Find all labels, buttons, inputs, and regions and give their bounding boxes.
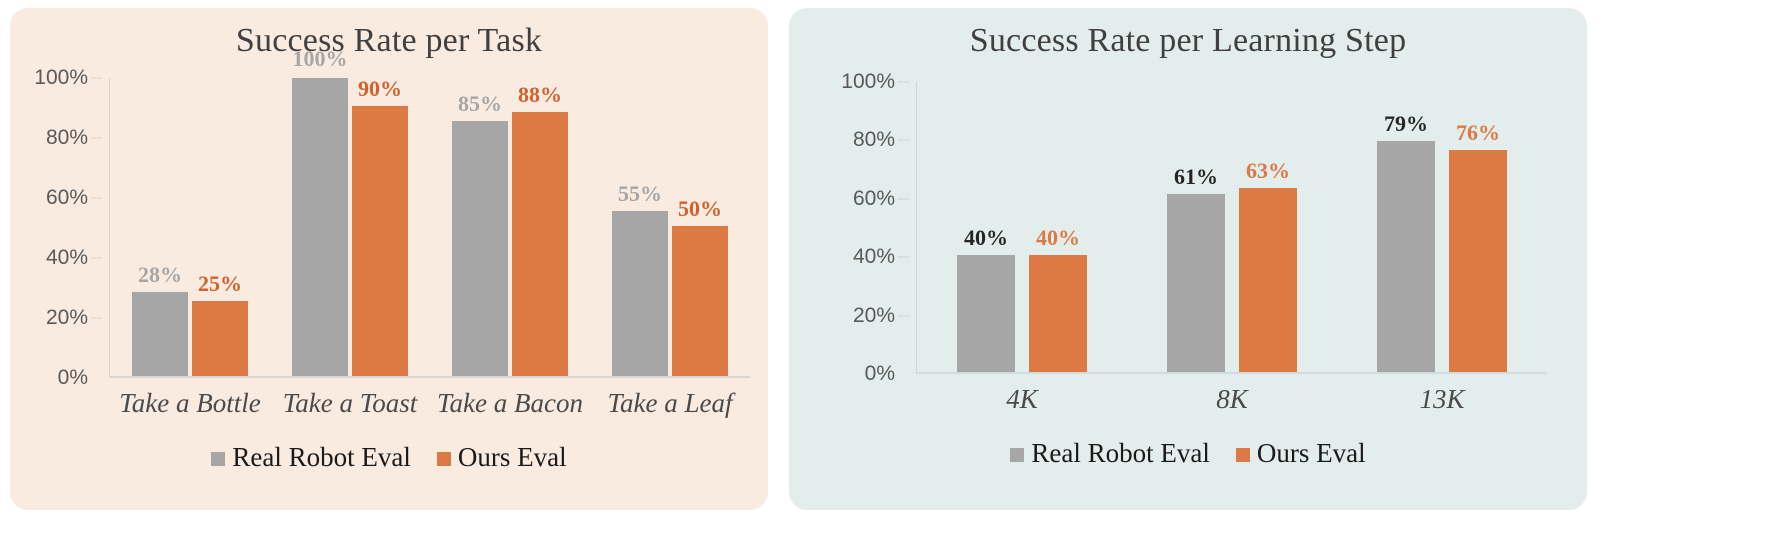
x-axis-task: Take a BottleTake a ToastTake a BaconTak… [10,378,768,434]
bar-slot: 61% [1167,82,1225,372]
bar-value-label: 76% [1456,122,1500,144]
y-axis-tick-mark [898,198,909,199]
bar-real-robot-eval[interactable] [292,78,348,376]
legend-label: Ours Eval [458,442,567,473]
bar-ours-eval[interactable] [1029,255,1087,372]
bar-slot: 50% [672,78,728,376]
y-axis-tick-label: 40% [46,246,88,270]
bar-slot: 25% [192,78,248,376]
y-axis-tick-mark [898,257,909,258]
bar-value-label: 90% [358,78,402,100]
figure-root: Success Rate per Task 0%20%40%60%80%100%… [0,0,1774,550]
bar-ours-eval[interactable] [1239,188,1297,372]
bar-slot: 76% [1449,82,1507,372]
y-axis-tick-mark [91,318,102,319]
bar-ours-eval[interactable] [1449,150,1507,372]
legend-label: Real Robot Eval [232,442,410,473]
bar-ours-eval[interactable] [512,112,568,376]
bar-value-label: 63% [1246,160,1290,182]
x-axis-category-label: Take a Toast [283,388,418,419]
bar-real-robot-eval[interactable] [612,211,668,376]
y-axis-tick-label: 20% [853,304,895,328]
bar-value-label: 55% [618,183,662,205]
bar-slot: 55% [612,78,668,376]
y-axis-task: 0%20%40%60%80%100% [10,78,110,378]
plot-area-task: 0%20%40%60%80%100% 28%25%100%90%85%88%55… [10,78,768,378]
bar-group: 55%50% [590,78,750,376]
bar-group: 61%63% [1127,82,1337,372]
y-axis-tick-label: 80% [853,128,895,152]
bar-group: 28%25% [110,78,270,376]
legend-item[interactable]: Real Robot Eval [211,442,410,473]
bar-value-label: 61% [1174,166,1218,188]
y-axis-tick-mark [91,138,102,139]
legend-learning-step: Real Robot EvalOurs Eval [789,438,1587,469]
y-axis-tick-mark [91,258,102,259]
y-axis-tick-label: 20% [46,306,88,330]
legend-swatch-icon [437,452,451,466]
bar-group: 79%76% [1337,82,1547,372]
legend-swatch-icon [1236,448,1250,462]
legend-swatch-icon [1010,448,1024,462]
bar-ours-eval[interactable] [672,226,728,376]
bar-real-robot-eval[interactable] [1377,141,1435,372]
bar-group: 85%88% [430,78,590,376]
bar-slot: 63% [1239,82,1297,372]
x-axis-category-label: Take a Bacon [437,388,583,419]
bar-slot: 40% [1029,82,1087,372]
bar-slot: 100% [292,78,348,376]
bar-real-robot-eval[interactable] [452,121,508,376]
bar-slot: 88% [512,78,568,376]
y-axis-learning-step: 0%20%40%60%80%100% [807,82,917,374]
legend-task: Real Robot EvalOurs Eval [10,442,768,473]
x-axis-category-label: Take a Leaf [607,388,732,419]
bars-region-learning-step: 40%40%61%63%79%76% [917,82,1547,374]
bar-value-label: 79% [1384,113,1428,135]
chart-panel-task: Success Rate per Task 0%20%40%60%80%100%… [10,8,768,510]
bar-slot: 79% [1377,82,1435,372]
bar-value-label: 25% [198,273,242,295]
bar-slot: 40% [957,82,1015,372]
y-axis-tick-label: 80% [46,126,88,150]
bars-region-task: 28%25%100%90%85%88%55%50% [110,78,750,378]
bar-slot: 90% [352,78,408,376]
legend-label: Ours Eval [1257,438,1366,469]
y-axis-tick-mark [898,82,909,83]
x-axis-category-label: 13K [1419,384,1464,415]
y-axis-tick-mark [898,140,909,141]
y-axis-tick-label: 60% [853,187,895,211]
y-axis-tick-mark [898,315,909,316]
y-axis-tick-mark [91,78,102,79]
x-axis-learning-step: 4K8K13K [789,374,1587,430]
bar-ours-eval[interactable] [192,301,248,376]
y-axis-tick-label: 40% [853,245,895,269]
y-axis-tick-label: 100% [34,66,88,90]
y-axis-tick-label: 100% [841,70,895,94]
legend-item[interactable]: Real Robot Eval [1010,438,1209,469]
bar-group: 100%90% [270,78,430,376]
page-title-left: Success Rate per Task [10,8,768,58]
bar-value-label: 50% [678,198,722,220]
legend-label: Real Robot Eval [1031,438,1209,469]
bar-ours-eval[interactable] [352,106,408,376]
page-title-right: Success Rate per Learning Step [789,8,1587,58]
x-axis-category-label: 4K [1006,384,1038,415]
plot-area-learning-step: 0%20%40%60%80%100% 40%40%61%63%79%76% [789,82,1587,374]
bar-real-robot-eval[interactable] [1167,194,1225,372]
bar-value-label: 88% [518,84,562,106]
y-axis-tick-label: 60% [46,186,88,210]
x-axis-category-label: Take a Bottle [119,388,261,419]
bar-slot: 85% [452,78,508,376]
bar-group: 40%40% [917,82,1127,372]
bar-value-label: 40% [964,227,1008,249]
bar-real-robot-eval[interactable] [957,255,1015,372]
x-axis-category-label: 8K [1216,384,1248,415]
legend-item[interactable]: Ours Eval [1236,438,1366,469]
bar-value-label: 28% [138,264,182,286]
y-axis-tick-mark [91,198,102,199]
bar-value-label: 100% [293,48,348,70]
bar-value-label: 85% [458,93,502,115]
bar-slot: 28% [132,78,188,376]
legend-item[interactable]: Ours Eval [437,442,567,473]
bar-real-robot-eval[interactable] [132,292,188,376]
legend-swatch-icon [211,452,225,466]
chart-panel-learning-step: Success Rate per Learning Step 0%20%40%6… [789,8,1587,510]
bar-value-label: 40% [1036,227,1080,249]
